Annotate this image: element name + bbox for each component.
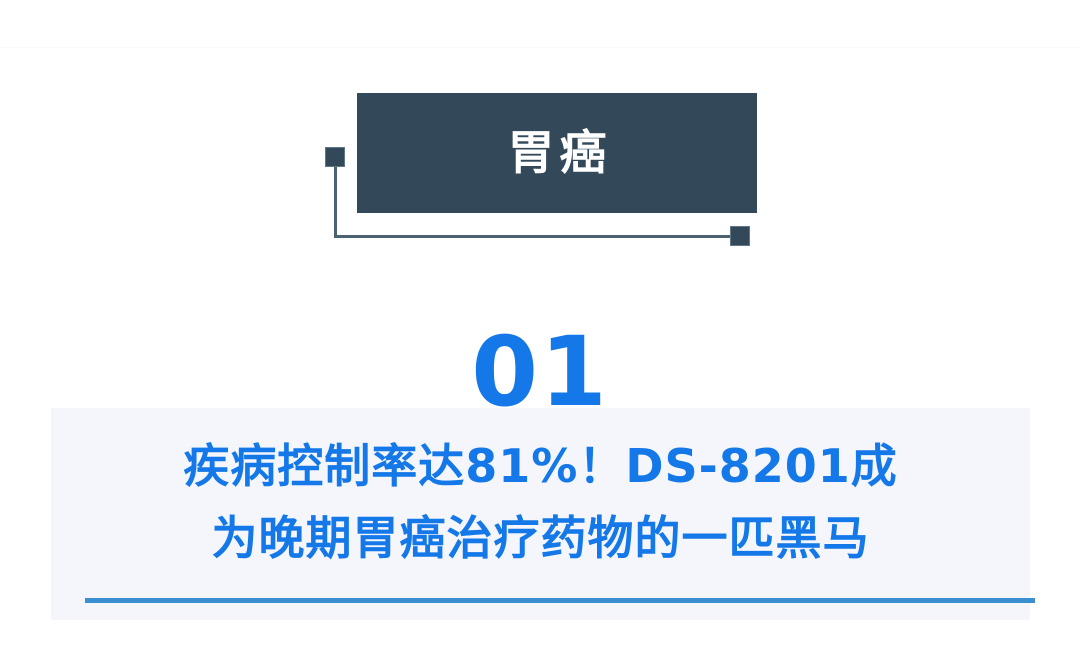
section-number: 01 (0, 324, 1080, 420)
category-banner: 胃癌 (357, 93, 757, 213)
bracket-square-marker-top-left (325, 147, 345, 167)
headline-line-2: 为晚期胃癌治疗药物的一匹黑马 (51, 502, 1030, 574)
category-banner-label: 胃癌 (503, 130, 612, 177)
bracket-horizontal-line (334, 235, 738, 238)
headline-text-block: 疾病控制率达81%！DS-8201成 为晚期胃癌治疗药物的一匹黑马 (51, 430, 1030, 574)
bracket-vertical-line (334, 160, 337, 238)
headline-line-1: 疾病控制率达81%！DS-8201成 (51, 430, 1030, 502)
top-hairline-divider (0, 47, 1080, 48)
slide-canvas: 胃癌 01 疾病控制率达81%！DS-8201成 为晚期胃癌治疗药物的一匹黑马 (0, 0, 1080, 660)
headline-underline-rule (85, 598, 1035, 603)
headline-panel: 疾病控制率达81%！DS-8201成 为晚期胃癌治疗药物的一匹黑马 (51, 408, 1030, 620)
bracket-square-marker-bottom-right (730, 226, 750, 246)
